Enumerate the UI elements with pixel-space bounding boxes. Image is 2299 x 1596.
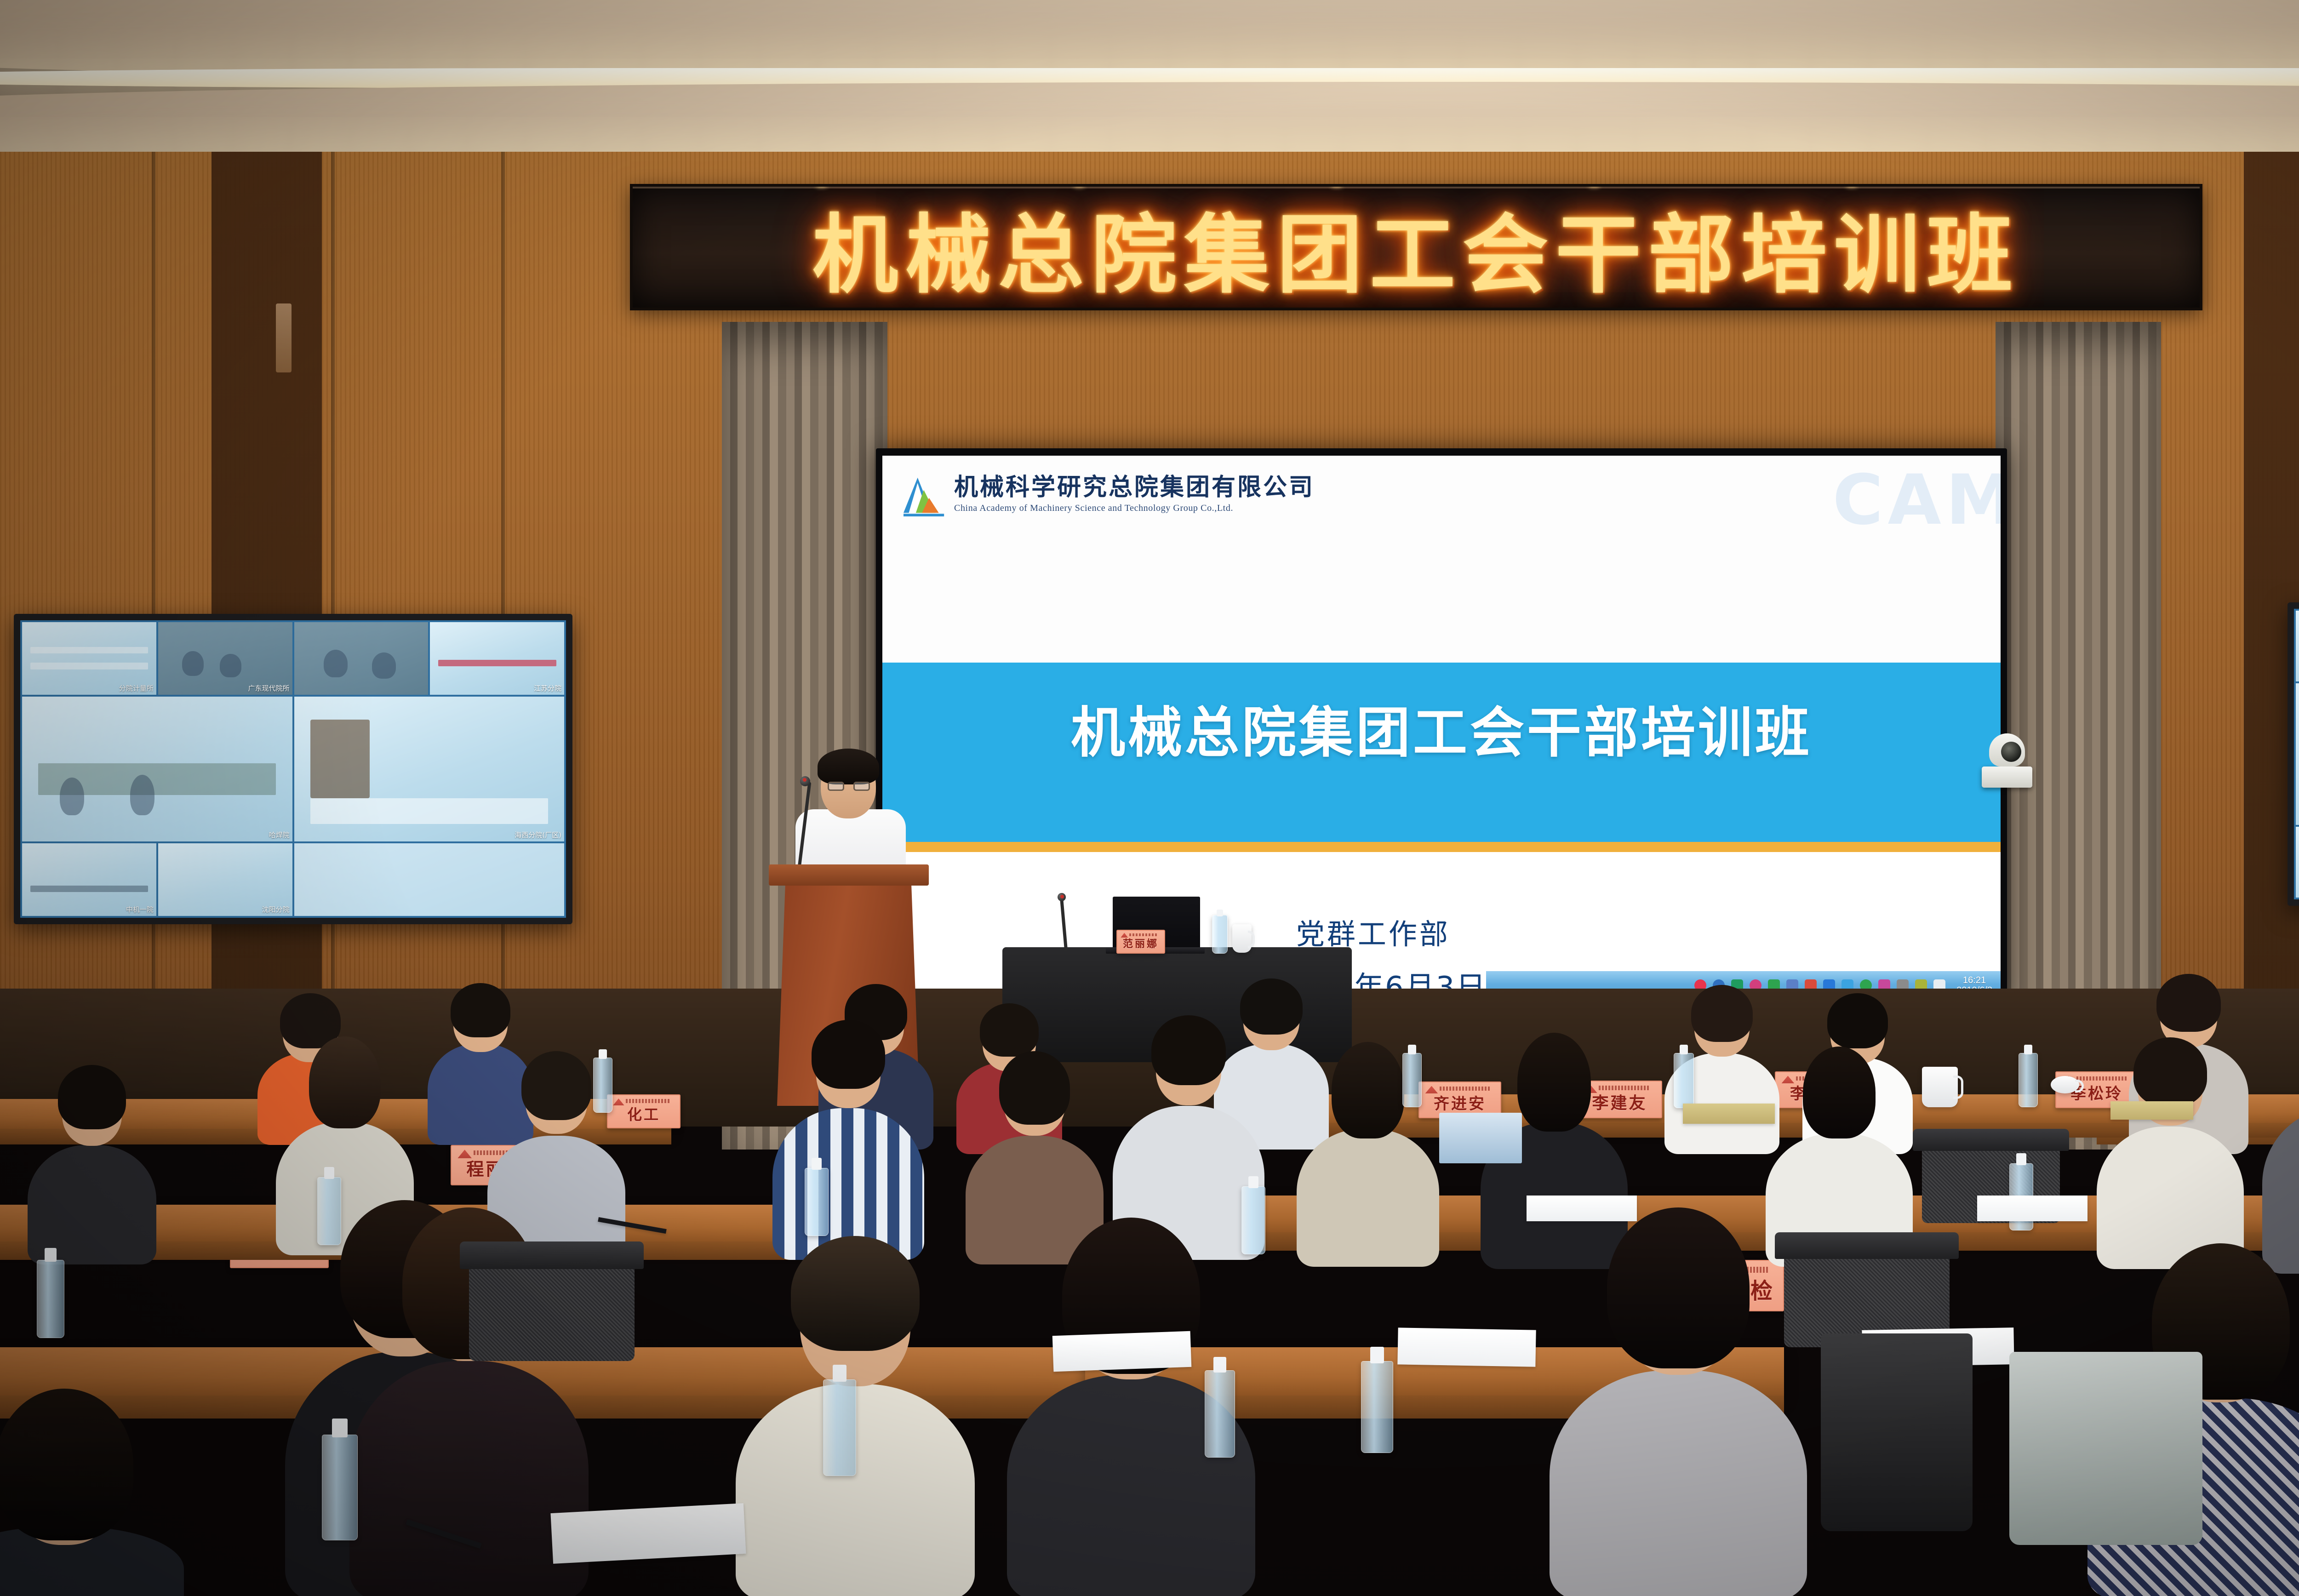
attendee [772, 1012, 924, 1251]
water-bottle [322, 1435, 358, 1540]
attendee [1550, 1205, 1807, 1596]
backpack [1821, 1333, 1973, 1531]
notebook [1683, 1104, 1775, 1124]
video-tile[interactable]: 哈焊院 [2296, 683, 2299, 825]
video-tile-label: 分院计量所 [119, 683, 154, 693]
attendee [28, 1058, 156, 1255]
conference-hall-photo: 机械总院集团工会干部培训班 CAM 机械科学研究总院集团有限公司 China A… [0, 0, 2299, 1596]
video-tile-label: 海西分院(厂区) [515, 830, 561, 840]
video-tile[interactable]: 中机一院 [22, 843, 156, 916]
podium-top [769, 864, 929, 886]
video-tile[interactable]: 海西分院(厂区) [294, 697, 565, 842]
water-bottle [805, 1168, 829, 1236]
ptz-camera [1982, 733, 2032, 788]
cam-watermark: CAM [1833, 460, 2001, 540]
water-bottle [1205, 1370, 1235, 1458]
plate-subtext [626, 1099, 670, 1103]
left-video-wall-grid: 分院计量所 广东现代院所 江苏分院 哈焊院 [20, 620, 566, 918]
plate-logo-icon [458, 1150, 472, 1158]
water-bottle [37, 1260, 64, 1338]
attendee [0, 1389, 184, 1596]
chair-frame [1775, 1232, 1959, 1259]
slide-accent-rule [882, 842, 2001, 852]
presenter-microphone-head [1058, 893, 1066, 901]
video-tile[interactable] [294, 843, 565, 916]
right-video-wall[interactable]: 分院计量所 广东现代院所 江苏分院 哈焊院 [2288, 602, 2299, 906]
video-tile-label: 广东现代院所 [248, 683, 289, 693]
water-bottle [823, 1379, 856, 1476]
coffee-mug [1922, 1067, 1958, 1107]
nameplate-text: 范丽娜 [1123, 936, 1159, 950]
led-banner: 机械总院集团工会干部培训班 [630, 184, 2202, 310]
video-tile[interactable]: 沈阳分院 [158, 843, 292, 916]
slide-title: 机械总院集团工会干部培训班 [882, 688, 2001, 767]
chair-frame [460, 1241, 644, 1269]
podium-microphone-head [800, 776, 810, 786]
handout-paper [1977, 1196, 2087, 1221]
video-tile[interactable]: 分院计量所 [22, 622, 156, 695]
video-tile[interactable]: 广东现代院所 [158, 622, 292, 695]
water-bottle [1674, 1053, 1694, 1108]
speaker-glasses [828, 782, 870, 791]
video-tile-label: 中机一院 [126, 904, 154, 914]
company-logo: 机械科学研究总院集团有限公司 China Academy of Machiner… [903, 475, 1315, 517]
led-banner-text: 机械总院集团工会干部培训班 [812, 185, 2020, 309]
water-bottle [317, 1177, 341, 1245]
water-bottle [1241, 1186, 1265, 1254]
water-bottle [1402, 1053, 1422, 1107]
attendee [2097, 1030, 2244, 1260]
handbag [2009, 1352, 2202, 1545]
nameplate-text: 机械院 [2065, 1071, 2066, 1073]
attendee [2262, 1007, 2299, 1264]
nameplate-fan-lina: 范丽娜 [1116, 930, 1165, 954]
speaker-hair [818, 749, 879, 784]
water-bottle [1361, 1361, 1393, 1453]
video-tile[interactable]: 中机一院 [2296, 827, 2299, 898]
notebook [2110, 1101, 2193, 1120]
taskbar-time: 16:21 [1956, 975, 1992, 985]
video-tile[interactable]: 江苏分院 [430, 622, 564, 695]
handout-paper [1052, 1331, 1192, 1372]
ptz-camera-lens [2001, 742, 2021, 762]
company-name-en: China Academy of Machinery Science and T… [954, 503, 1315, 514]
cam-triangle-logo [903, 475, 947, 517]
projection-screen-frame: CAM 机械科学研究总院集团有限公司 China Academy of Mach… [876, 448, 2007, 1007]
handout-paper [1397, 1327, 1536, 1367]
water-bottle [593, 1058, 612, 1113]
handout-paper [1527, 1196, 1637, 1221]
right-video-wall-grid: 分院计量所 广东现代院所 江苏分院 哈焊院 [2294, 609, 2299, 899]
plate-subtext [1129, 933, 1158, 936]
presenter-water-bottle [1212, 915, 1228, 954]
wall-vent-left [276, 303, 292, 372]
water-bottle [2019, 1053, 2038, 1107]
video-tile[interactable]: 哈焊院 [22, 697, 292, 842]
attendee-laptop-screen[interactable] [1439, 1113, 1522, 1163]
company-name-cn: 机械科学研究总院集团有限公司 [954, 475, 1315, 500]
presenter-mug [1232, 924, 1252, 953]
ptz-camera-base [1982, 767, 2032, 788]
slide-department: 党群工作部 [1296, 911, 1450, 952]
video-tile[interactable] [294, 622, 429, 695]
video-tile[interactable]: 分院计量所 [2296, 611, 2299, 681]
video-tile-label: 沈阳分院 [262, 904, 289, 914]
nameplate-text: 齐进安 [1434, 1091, 1486, 1114]
projection-screen[interactable]: CAM 机械科学研究总院集团有限公司 China Academy of Mach… [882, 456, 2001, 1000]
left-video-wall[interactable]: 分院计量所 广东现代院所 江苏分院 哈焊院 [14, 614, 572, 924]
video-tile-label: 江苏分院 [534, 683, 561, 693]
nameplate-text: 化工 [627, 1103, 660, 1124]
coffee-mug [2051, 1076, 2079, 1093]
handout-paper [550, 1503, 746, 1564]
chair-frame [1913, 1129, 2069, 1151]
video-tile-label: 哈焊院 [269, 830, 289, 840]
ptz-camera-head [1989, 733, 2025, 767]
